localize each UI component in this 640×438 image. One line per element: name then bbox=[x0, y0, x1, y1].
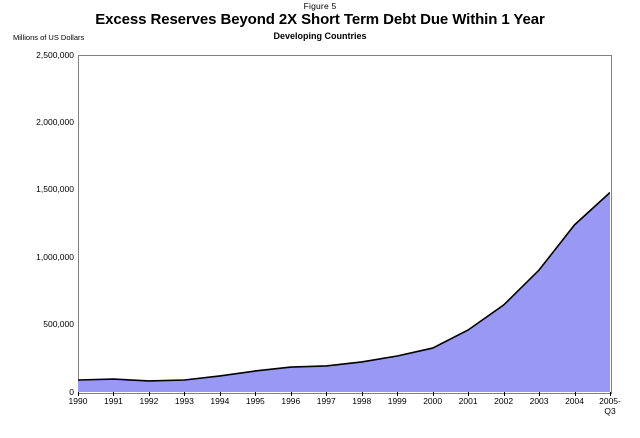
x-axis-tick-label: 1995 bbox=[246, 396, 265, 406]
x-axis-tick-labels: 1990199119921993199419951996199719981999… bbox=[0, 396, 640, 432]
x-axis-tick-label: 1990 bbox=[69, 396, 88, 406]
y-axis-tick-labels: 0500,0001,000,0001,500,0002,000,0002,500… bbox=[0, 0, 74, 438]
x-axis-tick-label: 1991 bbox=[104, 396, 123, 406]
y-axis-tick-label: 0 bbox=[2, 387, 74, 397]
y-axis-tick-label: 2,000,000 bbox=[2, 117, 74, 127]
x-axis-tick-label: 2000 bbox=[423, 396, 442, 406]
y-axis-tick-label: 500,000 bbox=[2, 319, 74, 329]
x-axis-tick-label: 2004 bbox=[565, 396, 584, 406]
area-fill-series-0 bbox=[78, 193, 610, 393]
x-axis-tick-label: 1993 bbox=[175, 396, 194, 406]
chart-figure: Figure 5 Excess Reserves Beyond 2X Short… bbox=[0, 0, 640, 438]
x-axis-tick-label: 1999 bbox=[388, 396, 407, 406]
y-axis-tick-label: 1,500,000 bbox=[2, 184, 74, 194]
figure-number-label: Figure 5 bbox=[0, 1, 640, 11]
chart-title: Excess Reserves Beyond 2X Short Term Deb… bbox=[0, 11, 640, 28]
x-axis-tick-label: 2003 bbox=[530, 396, 549, 406]
area-chart-plot bbox=[78, 55, 610, 392]
x-axis-tick-label: 2005-Q3 bbox=[599, 396, 621, 416]
x-axis-tick-label: 1996 bbox=[281, 396, 300, 406]
y-axis-tick-label: 1,000,000 bbox=[2, 252, 74, 262]
x-axis-tick-label: 1998 bbox=[352, 396, 371, 406]
x-axis-tick-label: 2002 bbox=[494, 396, 513, 406]
x-axis-tick-label: 2001 bbox=[459, 396, 478, 406]
x-axis-tick-label: 1994 bbox=[210, 396, 229, 406]
x-axis-tick-label: 1992 bbox=[139, 396, 158, 406]
x-axis-tick-label: 1997 bbox=[317, 396, 336, 406]
y-axis-tick-label: 2,500,000 bbox=[2, 50, 74, 60]
chart-subtitle: Developing Countries bbox=[0, 31, 640, 41]
